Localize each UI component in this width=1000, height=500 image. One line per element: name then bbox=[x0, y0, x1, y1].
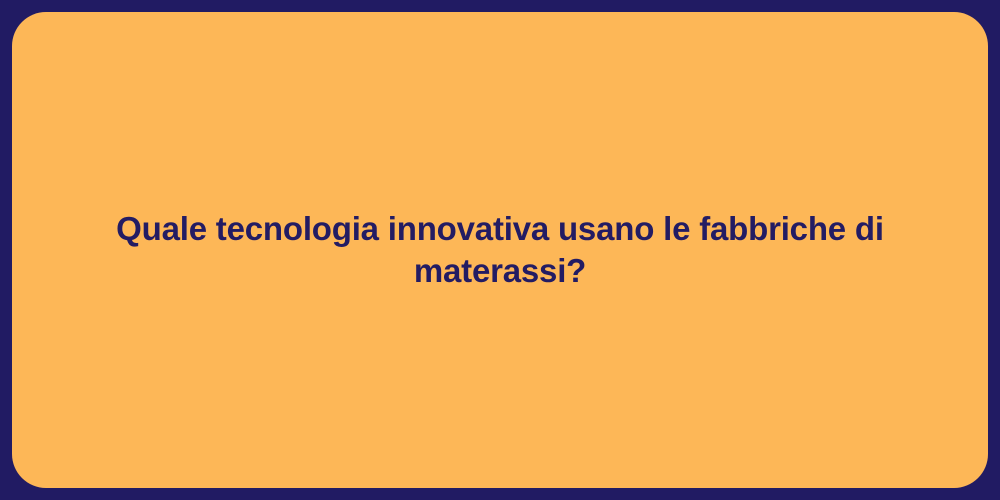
question-card-panel: Quale tecnologia innovativa usano le fab… bbox=[12, 12, 988, 488]
question-heading: Quale tecnologia innovativa usano le fab… bbox=[42, 208, 958, 292]
question-card-frame: Quale tecnologia innovativa usano le fab… bbox=[0, 0, 1000, 500]
